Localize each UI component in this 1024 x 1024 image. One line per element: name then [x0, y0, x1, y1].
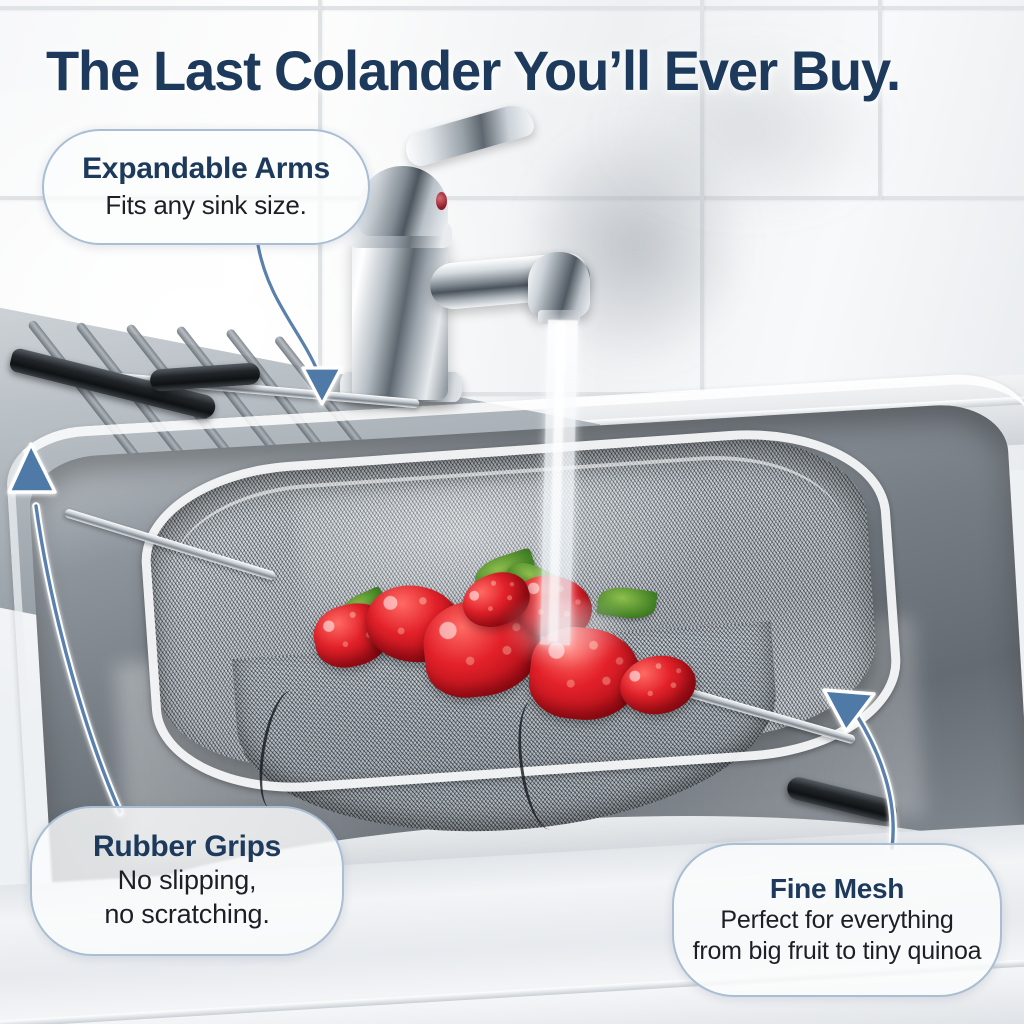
- callout-body-line: No slipping,: [118, 865, 257, 897]
- water-splash: [500, 600, 630, 670]
- grout-line-horizontal: [0, 6, 1024, 10]
- faucet-body: [352, 230, 448, 400]
- page-title: The Last Colander You’ll Ever Buy.: [46, 42, 958, 101]
- faucet-spout-head: [528, 252, 590, 318]
- callout-body-line: Fits any sink size.: [105, 190, 306, 221]
- callout-fine-mesh: Fine Mesh Perfect for everything from bi…: [672, 843, 1002, 997]
- callout-rubber-grips: Rubber Grips No slipping, no scratching.: [30, 806, 344, 956]
- callout-title: Fine Mesh: [770, 874, 904, 904]
- callout-body-line: Perfect for everything: [720, 906, 953, 935]
- hot-water-indicator-icon: [436, 192, 447, 210]
- callout-title: Expandable Arms: [82, 153, 330, 185]
- callout-expandable-arms: Expandable Arms Fits any sink size.: [42, 129, 370, 245]
- callout-body-line: no scratching.: [104, 899, 269, 931]
- callout-body-line: from big fruit to tiny quinoa: [693, 937, 982, 966]
- callout-title: Rubber Grips: [93, 831, 281, 863]
- product-infographic: The Last Colander You’ll Ever Buy. Expan…: [0, 0, 1024, 1024]
